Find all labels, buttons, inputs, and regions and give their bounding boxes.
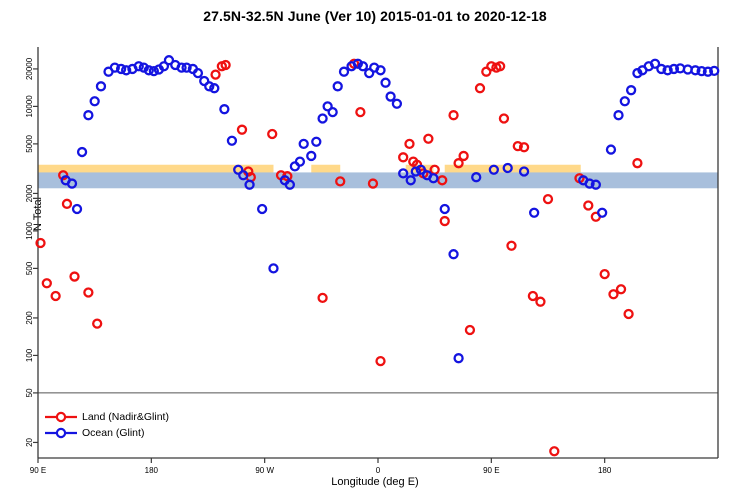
data-point [377, 357, 385, 365]
data-points-layer [37, 56, 719, 455]
data-point [93, 320, 101, 328]
data-point [228, 137, 236, 145]
data-point [615, 111, 623, 119]
data-point [356, 108, 364, 116]
data-point [329, 108, 337, 116]
y-tick-label: 5000 [25, 134, 34, 152]
y-tick-label: 200 [25, 311, 34, 325]
data-point [220, 105, 228, 113]
legend-marker-land [44, 410, 78, 424]
data-point [617, 285, 625, 293]
data-point [300, 140, 308, 148]
series-ocean [62, 56, 719, 362]
data-point [296, 158, 304, 166]
data-point [450, 250, 458, 258]
data-point [319, 114, 327, 122]
data-point [307, 152, 315, 160]
data-point [633, 159, 641, 167]
x-tick-label: 0 [376, 466, 381, 475]
data-point [268, 130, 276, 138]
y-tick-label: 20 [25, 437, 34, 446]
data-point [334, 82, 342, 90]
x-tick-label: 90 E [30, 466, 46, 475]
data-point [441, 205, 449, 213]
x-tick-label: 90 E [483, 466, 499, 475]
data-point [476, 84, 484, 92]
y-tick-label: 2000 [25, 184, 34, 202]
y-tick-label: 100 [25, 348, 34, 362]
x-tick-label: 180 [598, 466, 612, 475]
data-point [550, 447, 558, 455]
data-point [450, 111, 458, 119]
data-point [405, 140, 413, 148]
data-point [507, 242, 515, 250]
data-point [52, 292, 60, 300]
legend-label-ocean: Ocean (Glint) [78, 427, 144, 439]
x-tick-label: 90 W [255, 466, 274, 475]
data-point [609, 290, 617, 298]
x-tick-label: 180 [145, 466, 159, 475]
data-point [500, 114, 508, 122]
data-point [312, 138, 320, 146]
data-point [621, 97, 629, 105]
data-point [393, 100, 401, 108]
data-point [530, 209, 538, 217]
data-point [340, 68, 348, 76]
y-tick-label: 500 [25, 261, 34, 275]
chart-container: 27.5N-32.5N June (Ver 10) 2015-01-01 to … [0, 0, 750, 500]
data-point [43, 279, 51, 287]
data-point [466, 326, 474, 334]
data-point [529, 292, 537, 300]
threshold-bands-layer [38, 165, 718, 189]
data-point [455, 354, 463, 362]
legend-marker-ocean [44, 426, 78, 440]
data-point [71, 273, 79, 281]
legend-item-land[interactable]: Land (Nadir&Glint) [44, 409, 169, 425]
data-point [544, 195, 552, 203]
data-point [584, 201, 592, 209]
data-point [84, 111, 92, 119]
data-point [78, 148, 86, 156]
data-point [387, 93, 395, 101]
data-point [627, 86, 635, 94]
plot-frame [38, 47, 718, 458]
data-point [73, 205, 81, 213]
data-point [91, 97, 99, 105]
ocean-threshold-band [38, 172, 718, 188]
data-point [97, 82, 105, 90]
data-point [424, 135, 432, 143]
legend-item-ocean[interactable]: Ocean (Glint) [44, 425, 169, 441]
data-point [598, 209, 606, 217]
data-point [319, 294, 327, 302]
data-point [382, 79, 390, 87]
data-point [238, 126, 246, 134]
series-land [37, 60, 642, 455]
data-point [84, 289, 92, 297]
data-point [258, 205, 266, 213]
y-tick-label: 1000 [25, 221, 34, 239]
data-point [460, 152, 468, 160]
data-point [625, 310, 633, 318]
data-point [607, 146, 615, 154]
data-point [441, 217, 449, 225]
legend: Land (Nadir&Glint) Ocean (Glint) [44, 409, 169, 441]
y-tick-label: 20000 [25, 57, 34, 80]
y-tick-label: 50 [25, 388, 34, 397]
data-point [536, 298, 544, 306]
data-point [399, 153, 407, 161]
data-point [63, 200, 71, 208]
y-tick-label: 10000 [25, 95, 34, 118]
legend-label-land: Land (Nadir&Glint) [78, 411, 169, 423]
data-point [601, 270, 609, 278]
data-point [212, 71, 220, 79]
data-point [269, 264, 277, 272]
